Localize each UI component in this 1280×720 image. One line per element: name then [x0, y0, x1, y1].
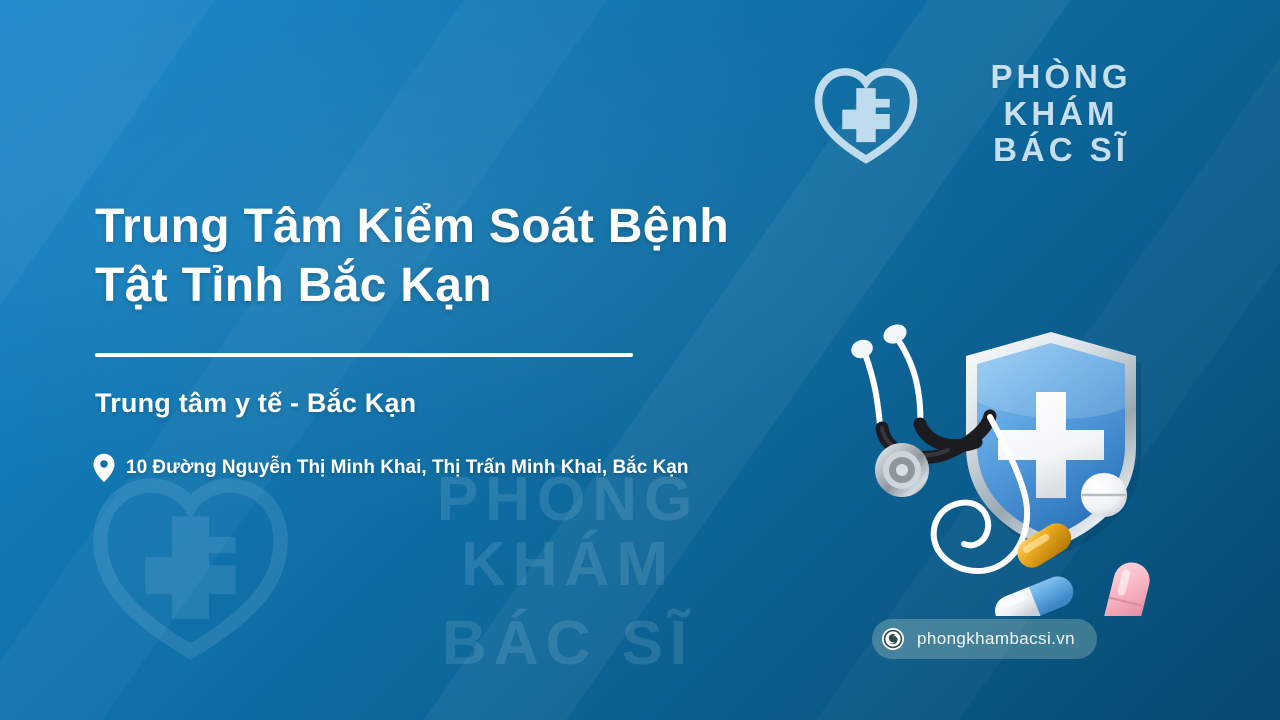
- heart-cross-icon: [812, 60, 920, 168]
- page-title: Trung Tâm Kiểm Soát Bệnh Tật Tỉnh Bắc Kạ…: [95, 198, 855, 315]
- chestpiece: [875, 443, 929, 497]
- title-divider: [95, 353, 633, 357]
- blue-white-capsule: [990, 572, 1078, 616]
- brand-logo-line-1: PHÒNG KHÁM: [938, 59, 1184, 133]
- clinic-banner: PHÒNG KHÁM BÁC SĨ PHÒNG KHÁM BÁC SĨ Trun…: [0, 0, 1280, 720]
- page-title-line-1: Trung Tâm Kiểm Soát Bệnh: [95, 198, 855, 257]
- address-text: 10 Đường Nguyễn Thị Minh Khai, Thị Trấn …: [126, 457, 688, 479]
- location-pin-icon: [93, 453, 115, 483]
- address-row: 10 Đường Nguyễn Thị Minh Khai, Thị Trấn …: [93, 453, 688, 483]
- round-tablet: [1081, 473, 1127, 517]
- website-url-text: phongkhambacsi.vn: [917, 629, 1075, 649]
- medical-shield-icon: [966, 332, 1141, 556]
- brand-logo-line-2: BÁC SĨ: [938, 132, 1184, 169]
- website-url-badge[interactable]: phongkhambacsi.vn: [872, 619, 1097, 659]
- pink-capsule: [1099, 559, 1153, 616]
- globe-icon: [881, 627, 905, 651]
- medical-illustration: [838, 296, 1180, 616]
- page-subtitle: Trung tâm y tế - Bắc Kạn: [95, 388, 416, 419]
- brand-logo-text: PHÒNG KHÁM BÁC SĨ: [938, 59, 1184, 170]
- brand-logo: PHÒNG KHÁM BÁC SĨ: [812, 58, 1184, 170]
- page-title-line-2: Tật Tỉnh Bắc Kạn: [95, 257, 855, 316]
